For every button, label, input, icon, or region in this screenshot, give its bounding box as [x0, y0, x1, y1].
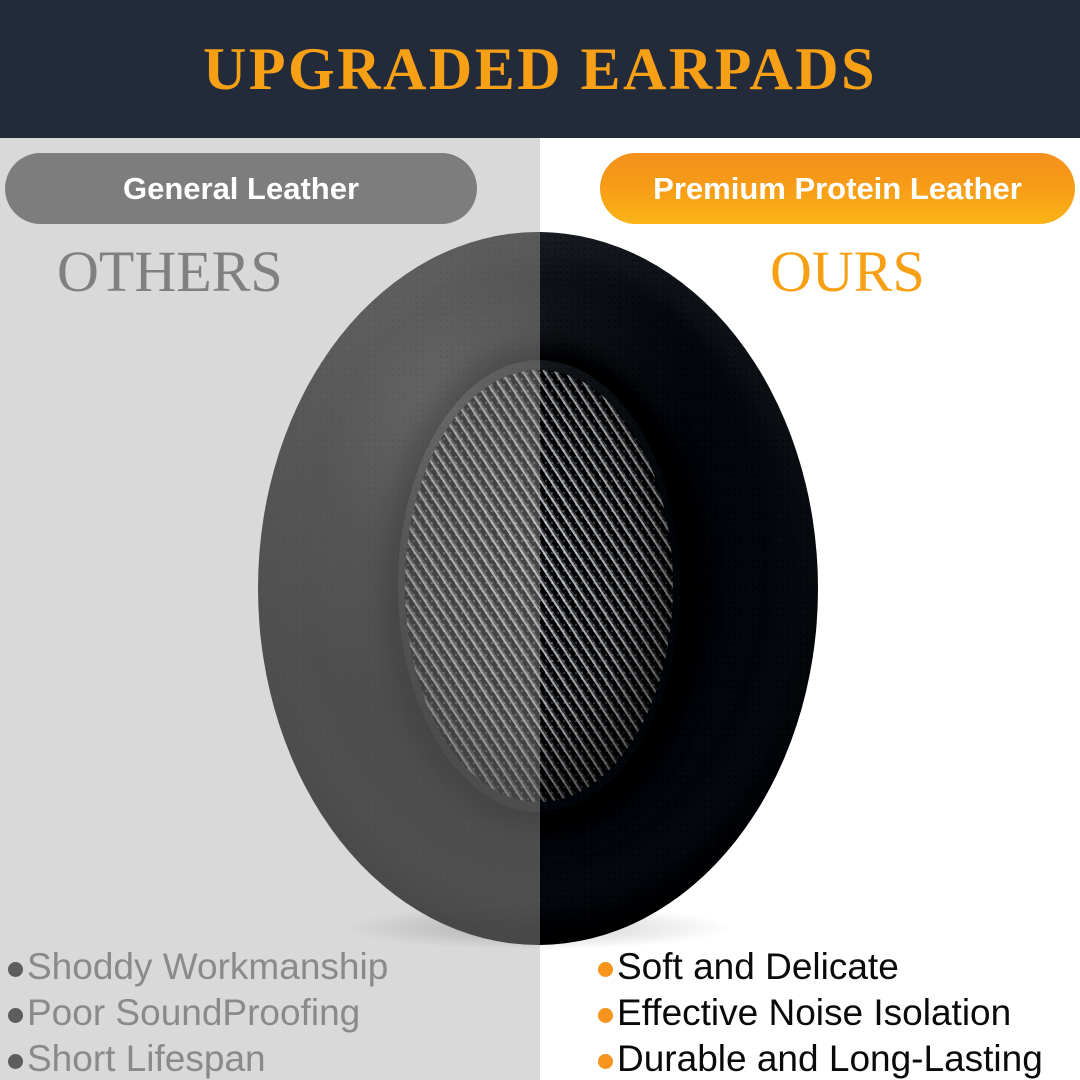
badge-premium-protein-leather-label: Premium Protein Leather: [653, 171, 1022, 207]
list-item-label: Poor SoundProofing: [27, 990, 360, 1036]
badge-general-leather: General Leather: [5, 153, 477, 224]
list-item: Durable and Long-Lasting: [598, 1036, 1043, 1080]
bullet-dot-icon: [598, 1008, 613, 1023]
list-item-label: Durable and Long-Lasting: [617, 1036, 1043, 1080]
list-item: Poor SoundProofing: [8, 990, 388, 1036]
ours-benefits-list: Soft and Delicate Effective Noise Isolat…: [598, 944, 1043, 1080]
list-item-label: Shoddy Workmanship: [27, 944, 388, 990]
list-item: Effective Noise Isolation: [598, 990, 1043, 1036]
bullet-dot-icon: [8, 1054, 23, 1069]
badge-premium-protein-leather: Premium Protein Leather: [600, 153, 1075, 224]
bullet-dot-icon: [8, 962, 23, 977]
header-bar: UPGRADED EARPADS: [0, 0, 1080, 138]
bullet-dot-icon: [8, 1008, 23, 1023]
list-item-label: Short Lifespan: [27, 1036, 266, 1080]
list-item: Shoddy Workmanship: [8, 944, 388, 990]
heading-others: OTHERS: [57, 243, 283, 301]
list-item-label: Effective Noise Isolation: [617, 990, 1011, 1036]
badge-general-leather-label: General Leather: [123, 171, 359, 207]
others-drawbacks-list: Shoddy Workmanship Poor SoundProofing Sh…: [8, 944, 388, 1080]
bullet-dot-icon: [598, 1054, 613, 1069]
list-item: Soft and Delicate: [598, 944, 1043, 990]
bullet-dot-icon: [598, 962, 613, 977]
list-item: Short Lifespan: [8, 1036, 388, 1080]
page-title: UPGRADED EARPADS: [203, 39, 877, 99]
heading-ours: OURS: [770, 243, 925, 301]
product-comparison-infographic: UPGRADED EARPADS: [0, 0, 1080, 1080]
list-item-label: Soft and Delicate: [617, 944, 899, 990]
